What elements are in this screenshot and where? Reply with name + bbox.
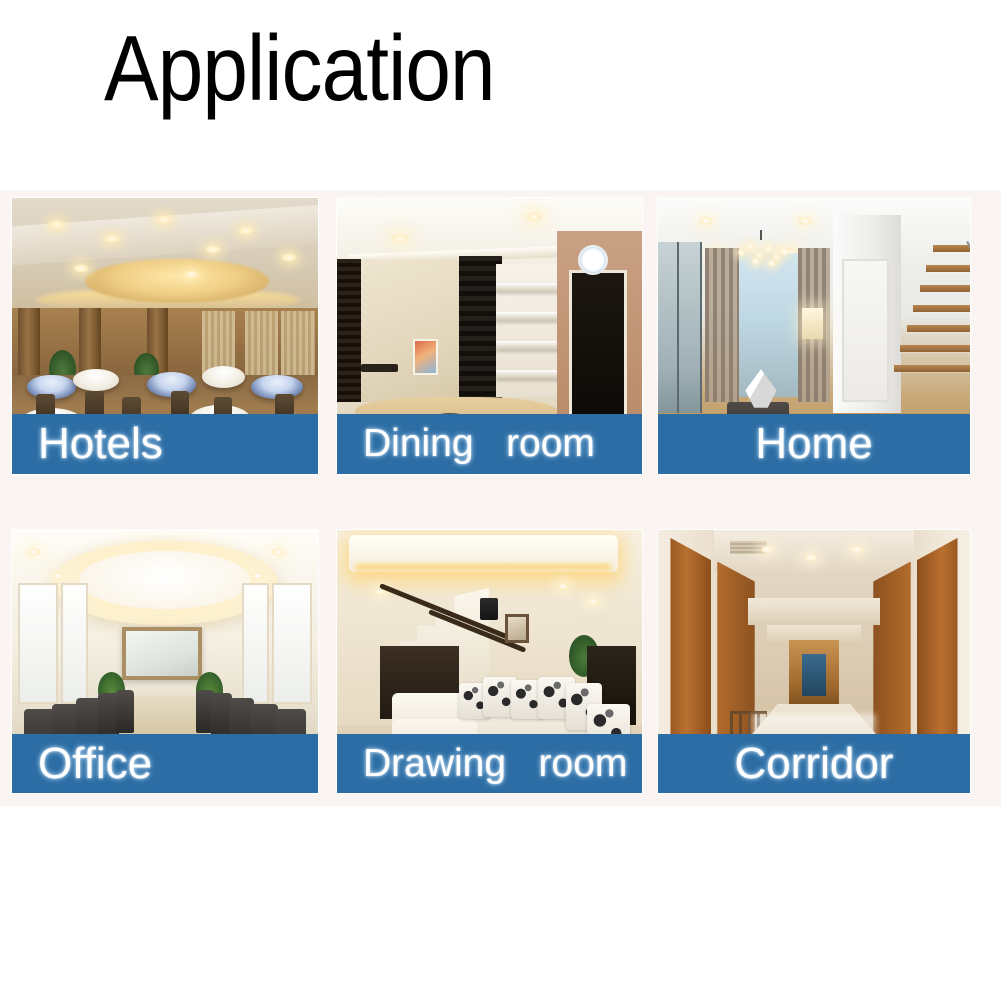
label-bar-home: Home: [658, 414, 970, 474]
label-bar-drawing-room: Drawing room: [337, 734, 642, 793]
label-bar-corridor: Corridor: [658, 734, 970, 793]
application-card-grid: Hotels: [0, 190, 1001, 806]
page-title: Application: [104, 18, 495, 118]
card-label-text: Dining room: [363, 420, 595, 468]
label-bar-dining-room: Dining room: [337, 414, 642, 474]
card-label-text: Corridor: [735, 740, 894, 788]
card-label-text: Drawing room: [363, 740, 627, 788]
card-home[interactable]: Home: [658, 198, 970, 474]
card-label-text: Home: [755, 420, 872, 468]
label-bar-office: Office: [12, 734, 318, 793]
card-dining-room[interactable]: Dining room: [337, 198, 642, 474]
card-label-text: Office: [38, 740, 152, 788]
card-corridor[interactable]: Corridor: [658, 530, 970, 793]
card-office[interactable]: Office: [12, 530, 318, 793]
card-drawing-room[interactable]: Drawing room: [337, 530, 642, 793]
card-hotels[interactable]: Hotels: [12, 198, 318, 474]
label-bar-hotels: Hotels: [12, 414, 318, 474]
card-label-text: Hotels: [38, 420, 163, 468]
